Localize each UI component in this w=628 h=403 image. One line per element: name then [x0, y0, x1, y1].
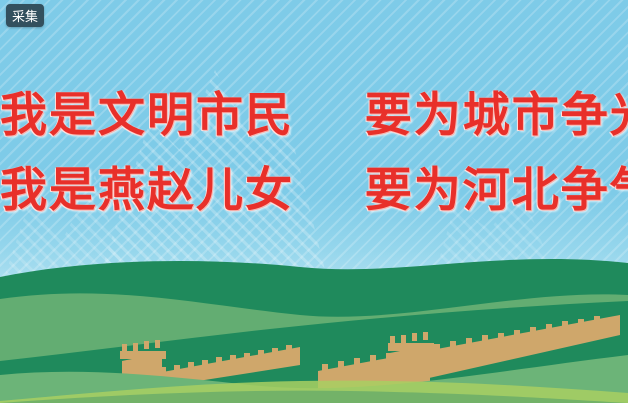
slogan-line-1-right: 要为城市争光 [365, 88, 628, 143]
slogan-line-1: 我是文明市民 要为城市争光 [0, 92, 628, 139]
slogan-line-2-left: 我是燕赵儿女 [0, 163, 294, 218]
slogan-line-1-left: 我是文明市民 [0, 88, 294, 143]
slogan-headline: 我是文明市民 要为城市争光 我是燕赵儿女 要为河北争气 [0, 92, 628, 214]
slogan-line-2: 我是燕赵儿女 要为河北争气 [0, 167, 628, 214]
banner-screenshot: 我是文明市民 要为城市争光 我是燕赵儿女 要为河北争气 采集 [0, 0, 628, 403]
hills-and-great-wall [0, 243, 628, 403]
capture-button[interactable]: 采集 [6, 4, 44, 27]
slogan-line-2-right: 要为河北争气 [365, 163, 628, 218]
